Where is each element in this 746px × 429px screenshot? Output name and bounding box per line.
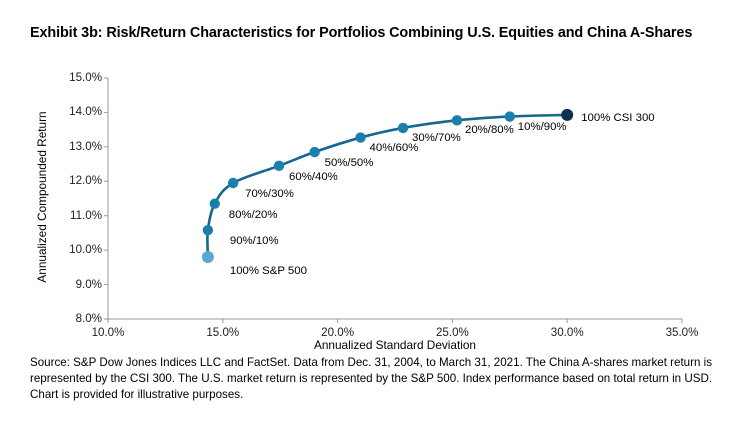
data-point-marker[interactable]	[355, 132, 365, 142]
data-point-label: 100% CSI 300	[581, 112, 654, 124]
data-point-marker[interactable]	[202, 251, 214, 263]
y-axis-tick-label: 10.0%	[46, 244, 102, 256]
data-point-label: 70%/30%	[245, 188, 294, 200]
y-axis-tick-label: 14.0%	[46, 106, 102, 118]
data-point-marker[interactable]	[398, 123, 408, 133]
data-point-label: 50%/50%	[325, 157, 374, 169]
source-note: Source: S&P Dow Jones Indices LLC and Fa…	[30, 355, 722, 404]
data-point-label: 20%/80%	[465, 124, 514, 136]
data-point-label: 10%/90%	[518, 121, 567, 133]
chart-page: Exhibit 3b: Risk/Return Characteristics …	[0, 0, 746, 429]
data-point-label: 60%/40%	[289, 171, 338, 183]
data-point-label: 100% S&P 500	[230, 265, 307, 277]
y-axis-tick-label: 11.0%	[46, 210, 102, 222]
data-point-marker[interactable]	[505, 111, 515, 121]
data-point-label: 40%/60%	[370, 142, 419, 154]
y-axis-title: Annualized Compounded Return	[35, 92, 49, 302]
data-point-marker[interactable]	[210, 198, 220, 208]
y-axis-tick-label: 9.0%	[46, 279, 102, 291]
data-point-marker[interactable]	[561, 109, 573, 121]
data-point-marker[interactable]	[228, 178, 238, 188]
x-axis-title: Annualized Standard Deviation	[108, 338, 682, 352]
data-point-marker[interactable]	[309, 147, 319, 157]
data-point-label: 90%/10%	[230, 235, 279, 247]
y-axis-tick-label: 15.0%	[46, 72, 102, 84]
data-point-marker[interactable]	[203, 225, 213, 235]
data-point-marker[interactable]	[274, 161, 284, 171]
data-point-label: 80%/20%	[229, 209, 278, 221]
y-axis-tick-label: 13.0%	[46, 141, 102, 153]
data-point-marker[interactable]	[452, 115, 462, 125]
data-point-label: 30%/70%	[412, 132, 461, 144]
y-axis-tick-label: 12.0%	[46, 175, 102, 187]
y-axis-tick-label: 8.0%	[46, 313, 102, 325]
